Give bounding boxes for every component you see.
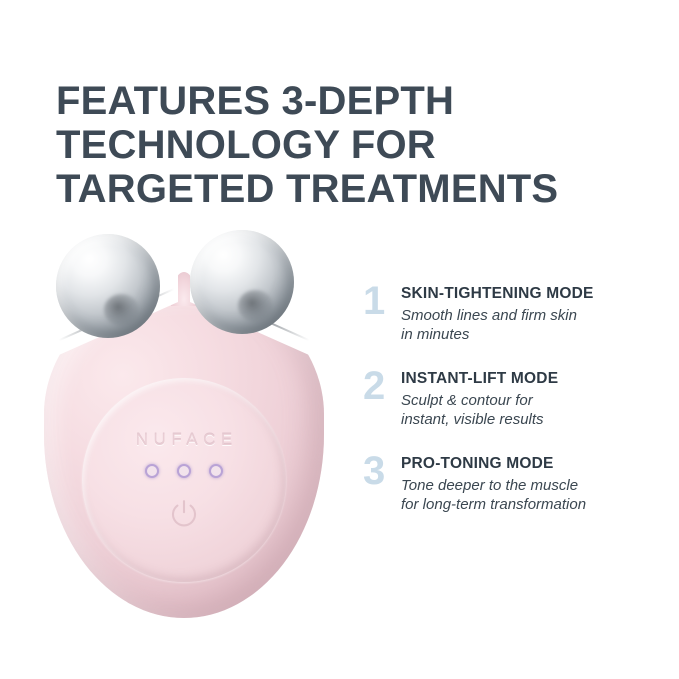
headline-line-3: TARGETED TREATMENTS <box>56 167 656 211</box>
feature-description-3: Tone deeper to the muscle for long-term … <box>401 476 663 514</box>
feature-title-3: PRO-TONING MODE <box>401 455 663 473</box>
feature-content-3: PRO-TONING MODE Tone deeper to the muscl… <box>401 453 663 514</box>
feature-content-1: SKIN-TIGHTENING MODE Smooth lines and fi… <box>401 283 663 344</box>
page-title: FEATURES 3-DEPTH TECHNOLOGY FOR TARGETED… <box>56 79 656 211</box>
feature-number-2: 2 <box>363 369 401 403</box>
device-control-panel: NUFACE <box>82 378 286 582</box>
product-feature-graphic: FEATURES 3-DEPTH TECHNOLOGY FOR TARGETED… <box>0 0 679 679</box>
feature-item-3: 3 PRO-TONING MODE Tone deeper to the mus… <box>363 453 663 514</box>
product-device-image: NUFACE <box>38 228 330 620</box>
feature-description-1: Smooth lines and firm skin in minutes <box>401 306 663 344</box>
led-indicator-1 <box>145 464 159 478</box>
feature-description-2: Sculpt & contour for instant, visible re… <box>401 391 663 429</box>
feature-number-1: 1 <box>363 284 401 318</box>
feature-desc-2-line-1: Sculpt & contour for <box>401 391 663 410</box>
treatment-sphere-right <box>190 230 294 334</box>
led-indicator-2 <box>177 464 191 478</box>
feature-desc-3-line-2: for long-term transformation <box>401 495 663 514</box>
feature-title-1: SKIN-TIGHTENING MODE <box>401 285 663 303</box>
treatment-sphere-left <box>56 234 160 338</box>
headline-line-2: TECHNOLOGY FOR <box>56 123 656 167</box>
feature-desc-1-line-1: Smooth lines and firm skin <box>401 306 663 325</box>
led-indicator-group <box>82 464 286 478</box>
feature-title-2: INSTANT-LIFT MODE <box>401 370 663 388</box>
feature-item-2: 2 INSTANT-LIFT MODE Sculpt & contour for… <box>363 368 663 429</box>
feature-content-2: INSTANT-LIFT MODE Sculpt & contour for i… <box>401 368 663 429</box>
feature-desc-2-line-2: instant, visible results <box>401 410 663 429</box>
feature-item-1: 1 SKIN-TIGHTENING MODE Smooth lines and … <box>363 283 663 344</box>
brand-wordmark: NUFACE <box>82 430 286 450</box>
power-icon[interactable] <box>167 496 201 530</box>
feature-desc-1-line-2: in minutes <box>401 325 663 344</box>
feature-number-3: 3 <box>363 454 401 488</box>
led-indicator-3 <box>209 464 223 478</box>
headline-line-1: FEATURES 3-DEPTH <box>56 79 656 123</box>
feature-desc-3-line-1: Tone deeper to the muscle <box>401 476 663 495</box>
feature-mode-list: 1 SKIN-TIGHTENING MODE Smooth lines and … <box>363 283 663 514</box>
